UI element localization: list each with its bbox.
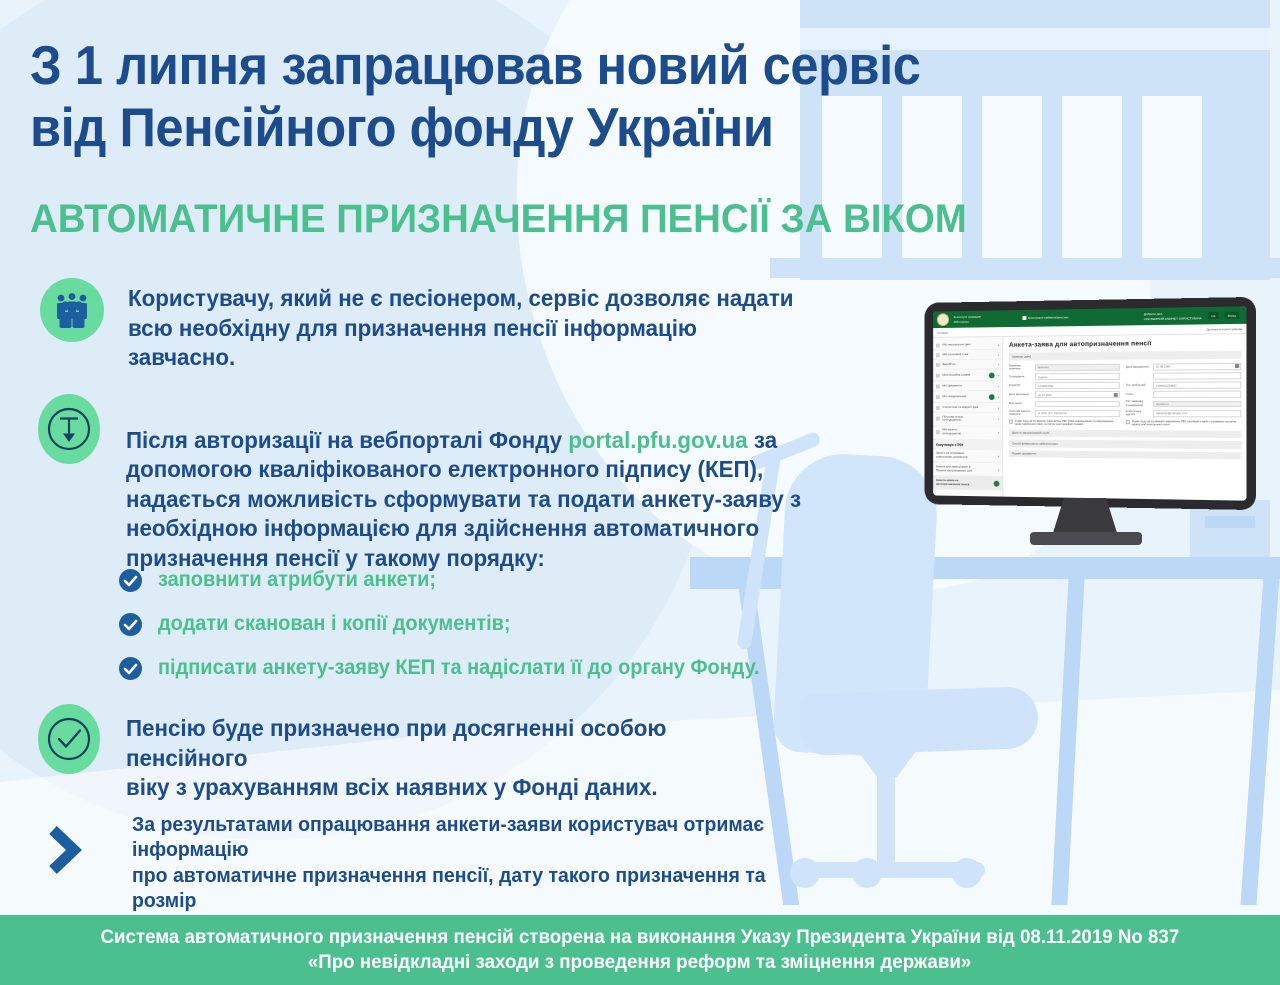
chevron-down-icon: ▸ (998, 417, 999, 421)
sidebar-subitem[interactable]: Анкета для запису/зміни в Перелік застра… (933, 463, 1002, 477)
sidebar-item-icon (936, 384, 940, 388)
check-circle-icon (38, 704, 100, 774)
chevron-down-icon: ▸ (998, 384, 999, 388)
check-badge-icon (118, 612, 143, 637)
checkbox-icon[interactable] (1126, 421, 1130, 425)
form-field-value: 01.07.2021 (1038, 393, 1052, 397)
checkbox-icon[interactable] (1009, 420, 1012, 423)
form-field-label: Електронна адреса (1126, 410, 1150, 417)
window-sill (770, 258, 1280, 278)
check-badge-icon (118, 568, 143, 593)
consent-label: Я даю згоду на отримання повідомлень ПФУ… (1132, 420, 1241, 427)
sidebar-item-icon (936, 430, 940, 434)
checklist-item: підписати анкету-заяву КЕП та надіслати … (118, 646, 818, 690)
portal-brand: Е-послуги громадян Мій портал (954, 315, 981, 324)
sidebar-item-label: Мої повідомлення (943, 395, 987, 399)
portal-user-area: Доброго дня, СИСТЕМНИЙ КАБІНЕТ КОРИСТУВА… (1144, 311, 1242, 321)
form-field[interactable]: ГромадянинУкраїна (1009, 373, 1120, 380)
form-field-label: Поштова адреса заявника (1009, 410, 1032, 417)
sidebar-item-icon (936, 405, 940, 409)
portal-sidebar: Мої персональні дані▸Мій страховий стаж▸… (933, 337, 1003, 497)
form-field-label: Тип заявника (громадянин) (1126, 400, 1150, 407)
chevron-down-icon: ▸ (998, 468, 999, 472)
sidebar-subitem-label: Запити на отримання електронних документ… (936, 452, 995, 460)
form-field[interactable]: Тел. мобільний+380501234567 (1126, 382, 1241, 389)
checklist-item: додати сканован і копії документів; (118, 602, 818, 646)
form-field-label: Дата народження (1126, 365, 1150, 369)
sidebar-item[interactable]: Статистика та відкриті дані▸ (933, 403, 1002, 413)
form-collapsible-section[interactable]: Дані по застрахованій особі (1009, 429, 1241, 438)
monitor-screen: Е-послуги громадян Мій портал Електронні… (933, 306, 1246, 500)
form-field-input[interactable]: ivanenko@example.com (1153, 410, 1241, 417)
check-badge-icon (118, 656, 143, 681)
form-field[interactable]: Стать (1126, 391, 1241, 398)
sidebar-item-badge (989, 394, 995, 400)
portal-center-label: Електронні кабінети/реєстри (1028, 316, 1068, 321)
chevron-down-icon: ▸ (998, 405, 999, 409)
chair-wheel (852, 858, 882, 888)
footer-line-2: «Про невідкладні заходи з проведення реф… (308, 950, 971, 975)
form-field-input[interactable] (1035, 401, 1120, 408)
chevron-down-icon: ▸ (998, 431, 999, 435)
form-collapsible-section[interactable]: Подані документи (1009, 450, 1241, 460)
chair-post (877, 742, 895, 872)
portal-body: Мої персональні дані▸Мій страховий стаж▸… (933, 334, 1246, 501)
portal-greeting: Доброго дня, СИСТЕМНИЙ КАБІНЕТ КОРИСТУВА… (1144, 311, 1202, 320)
breadcrumb-right: Допомога користувачам (1206, 326, 1242, 331)
chevron-down-icon: ▸ (998, 352, 999, 356)
breadcrumb-home[interactable]: Головна (937, 330, 948, 334)
form-field-input[interactable]: Україна (1035, 373, 1120, 380)
sidebar-subitem-label: Анкета-заява на автопризначення пенсії (936, 479, 991, 487)
grid-icon (1022, 316, 1026, 320)
form-collapsible-section[interactable]: Спосіб фінансового забезпечення (1009, 440, 1241, 449)
sidebar-item-label: Моя пенсійна справа (943, 373, 987, 377)
portal-url-link[interactable]: portal.pfu.gov.ua (568, 427, 747, 453)
sidebar-subitem-label: Анкета для запису/зміни в Перелік застра… (936, 465, 995, 473)
logout-button[interactable]: Вихід (1225, 312, 1239, 319)
chevron-down-icon: ▸ (998, 454, 999, 458)
sidebar-item[interactable]: Пільгова пенсія (спецдодаток)▸ (933, 413, 1002, 427)
form-field-value: Іваненко (1038, 366, 1049, 370)
sidebar-item-icon (936, 417, 940, 421)
sidebar-item-label: Мої документи (943, 384, 996, 388)
sidebar-item[interactable]: Заробіток▸ (933, 360, 1002, 370)
form-field-value: Особисто (1156, 402, 1169, 406)
sidebar-item[interactable]: Мої повідомлення▸ (933, 391, 1002, 403)
sidebar-item-icon (936, 373, 940, 377)
form-field-input[interactable] (1153, 373, 1241, 380)
form-field-label: Громадянин (1009, 375, 1032, 379)
checklist-item: заповнити атрибути анкети; (118, 558, 818, 602)
chair-seat (799, 686, 1039, 756)
form-field-input[interactable] (1153, 391, 1241, 398)
sidebar-subitem[interactable]: Анкета-заява на автопризначення пенсії (933, 476, 1002, 490)
chevron-down-icon: ▸ (998, 362, 999, 366)
form-field-value: м. Київ, вул. Хрещатик (1038, 411, 1067, 415)
text-before-url: Після авторизації на вебпорталі Фонду (126, 427, 568, 453)
portal-main: Анкета-заява для автопризначення пенсії … (1003, 334, 1246, 501)
steps-checklist: заповнити атрибути анкети;додати сканова… (118, 558, 818, 690)
consent-label: Я даю згоду на отримання повідомлень ПФУ… (1015, 420, 1120, 427)
sidebar-item[interactable]: Мій страховий стаж▸ (933, 350, 1002, 360)
page-title: З 1 липня запрацював новий сервіс від Пе… (30, 34, 968, 158)
sidebar-item-label: Статистика та відкриті дані (943, 405, 996, 409)
form-field-input[interactable]: м. Київ, вул. Хрещатик (1035, 410, 1120, 417)
chair-cone (846, 735, 928, 777)
monitor-stand-base (1030, 532, 1142, 545)
form-field[interactable]: Дата народження01.08.1960 (1126, 363, 1241, 371)
form-field[interactable]: РНОКПП1234567890 (1009, 382, 1120, 389)
sidebar-item[interactable]: Мої запити (спецдодаток)▸ (933, 426, 1002, 440)
infographic-poster: Е-послуги громадян Мій портал Електронні… (0, 0, 1280, 985)
window-pane (1062, 96, 1122, 258)
form-consents: Я даю згоду на отримання повідомлень ПФУ… (1009, 420, 1241, 428)
pfu-emblem-icon (937, 313, 949, 326)
sidebar-item-icon (936, 353, 940, 357)
form-field-label: РНОКПП (1009, 384, 1032, 388)
form-field[interactable]: Вид пенсії (1009, 400, 1120, 407)
form-field-value: ivanenko@example.com (1156, 412, 1187, 416)
calendar-icon[interactable] (1114, 393, 1118, 397)
calendar-icon[interactable] (1235, 364, 1239, 368)
sidebar-item-icon (936, 395, 940, 399)
form-field-label: Стать (1126, 393, 1150, 397)
form-field-input[interactable]: 01.08.1960 (1153, 363, 1241, 370)
form-fields: Прізвище заявникаІваненкоДата народження… (1009, 363, 1241, 417)
form-field-label: Тел. мобільний (1126, 384, 1150, 388)
portal-center-link[interactable]: Електронні кабінети/реєстри (1022, 316, 1068, 321)
checklist-item-label: заповнити атрибути анкети; (158, 568, 436, 592)
page-subtitle: АВТОМАТИЧНЕ ПРИЗНАЧЕННЯ ПЕНСІЇ ЗА ВІКОМ (30, 199, 1048, 239)
form-field[interactable]: Поштова адреса заявникам. Київ, вул. Хре… (1009, 410, 1120, 417)
form-field[interactable]: Прізвище заявникаІваненко (1009, 364, 1120, 372)
sidebar-item-label: Заробіток (943, 362, 996, 366)
sidebar-item[interactable]: Моя пенсійна справа▸ (933, 370, 1002, 382)
form-field-input[interactable]: Особисто (1153, 401, 1241, 408)
sidebar-item-label: Мої персональні дані (943, 343, 996, 347)
sidebar-item-badge (989, 372, 995, 378)
sidebar-subitem[interactable]: Запити на отримання електронних документ… (933, 449, 1002, 463)
monitor-illustration: Е-послуги громадян Мій портал Електронні… (918, 300, 1253, 555)
form-field[interactable]: Електронна адресаivanenko@example.com (1126, 410, 1241, 417)
form-field-value: 1234567890 (1038, 384, 1053, 388)
form-field[interactable]: Тип заявника (громадянин)Особисто (1126, 400, 1241, 407)
info-block-users-text: Користувачу, який не є песіонером, серві… (128, 284, 795, 373)
window-pane (1142, 96, 1202, 258)
sidebar-item[interactable]: Мої документи▸ (933, 381, 1002, 391)
form-section-applicant[interactable]: Заявник (дані) (1009, 351, 1241, 361)
sidebar-item-label: Пільгова пенсія (спецдодаток) (943, 415, 996, 423)
form-field[interactable] (1126, 373, 1241, 380)
info-block-users: Користувачу, який не є песіонером, серві… (40, 278, 830, 373)
sidebar-item-icon (936, 363, 940, 367)
page-title-text: З 1 липня запрацював новий сервіс від Пе… (30, 34, 920, 158)
form-field-value: Україна (1038, 375, 1048, 379)
sidebar-item-label: Мій страховий стаж (943, 352, 996, 356)
help-link[interactable]: Допомога користувачам (1206, 326, 1242, 331)
form-sections: Дані по застрахованій особіСпосіб фінанс… (1009, 429, 1241, 459)
form-field-label: Дата звернення (1009, 393, 1032, 396)
people-icon (40, 278, 104, 342)
chevron-down-icon: ▸ (998, 373, 999, 377)
info-block-authorization-text: Після авторизації на вебпорталі Фонду po… (126, 396, 801, 574)
monitor-bezel: Е-послуги громадян Мій портал Електронні… (925, 297, 1256, 510)
chevron-down-icon: ▸ (998, 395, 999, 399)
chevron-down-icon: ▸ (998, 342, 999, 346)
sidebar-item[interactable]: Мої персональні дані▸ (933, 340, 1002, 351)
chevron-right-icon (44, 812, 110, 881)
form-field-label: Вид пенсії (1009, 402, 1032, 405)
footer-line-1: Система автоматичного призначення пенсій… (101, 925, 1180, 950)
download-arrow-icon (38, 394, 100, 464)
info-block-authorization: Після авторизації на вебпорталі Фонду po… (38, 394, 838, 574)
form-field-input[interactable]: 01.07.2021 (1035, 391, 1120, 398)
desk-leg (1051, 575, 1084, 905)
form-field-value: +380501234567 (1156, 383, 1177, 387)
form-field-value: 01.08.1960 (1156, 365, 1170, 369)
info-block-pension-award-text: Пенсію буде призначено при досягненні ос… (126, 714, 793, 803)
desk-leg (1240, 575, 1279, 905)
consent-checkbox-row[interactable]: Я даю згоду на отримання повідомлень ПФУ… (1009, 420, 1120, 427)
form-field-input[interactable]: Іваненко (1035, 364, 1120, 371)
sidebar-item-icon (936, 343, 940, 347)
sidebar-item-label: Мої запити (спецдодаток) (943, 429, 996, 437)
form-title: Анкета-заява для автопризначення пенсії (1009, 339, 1241, 348)
form-field-input[interactable]: 1234567890 (1035, 382, 1120, 389)
sidebar-section-header: Комунікація з ПФУ (933, 440, 1002, 450)
form-field-input[interactable]: +380501234567 (1153, 382, 1241, 389)
form-field-label: Прізвище заявника (1009, 364, 1032, 371)
language-switch[interactable]: UA (1208, 312, 1219, 319)
info-block-pension-award: Пенсію буде призначено при досягненні ос… (38, 704, 828, 803)
consent-checkbox-row[interactable]: Я даю згоду на отримання повідомлень ПФУ… (1126, 420, 1241, 427)
checklist-item-label: додати сканован і копії документів; (158, 612, 511, 636)
sidebar-subitem-badge (994, 480, 1000, 486)
checklist-item-label: підписати анкету-заяву КЕП та надіслати … (158, 656, 760, 680)
footer-banner: Система автоматичного призначення пенсій… (0, 915, 1280, 985)
form-field[interactable]: Дата звернення01.07.2021 (1009, 391, 1120, 398)
chair-wheel (952, 858, 982, 888)
